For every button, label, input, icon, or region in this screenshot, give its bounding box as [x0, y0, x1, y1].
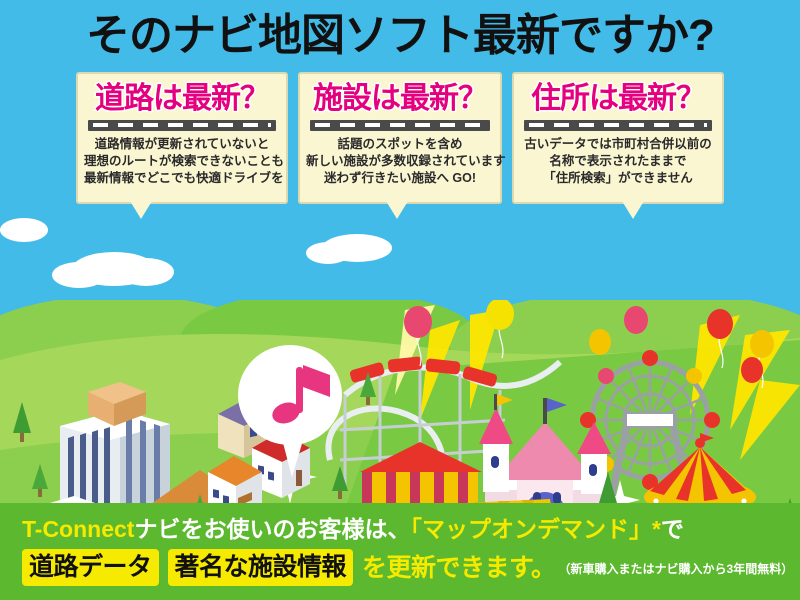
page-title: そのナビ地図ソフト最新ですか?: [0, 8, 800, 64]
footer-banner: T-Connectナビをお使いのお客様は、「マップオンデマンド」*で 道路データ…: [0, 503, 800, 600]
brand-name: T-Connect: [22, 516, 134, 542]
card-facility-line1: 話題のスポットを含め: [306, 136, 494, 153]
card-address: 住所は最新？ 古いデータでは市町村合併以前の 名称で表示されたままで 「住所検索…: [512, 72, 724, 204]
card-road-title: 道路は最新？: [84, 80, 280, 118]
card-address-line1: 古いデータでは市町村合併以前の: [520, 136, 716, 153]
card-address-line2: 名称で表示されたままで: [520, 153, 716, 170]
card-road-line1: 道路情報が更新されていないと: [84, 136, 280, 153]
cloud: [118, 258, 174, 286]
cloud: [306, 242, 350, 264]
badge-facility-info: 著名な施設情報: [168, 549, 354, 586]
road-dashes: [529, 123, 707, 127]
footer-fineprint: （新車購入またはナビ購入から3年間無料）: [559, 554, 794, 586]
card-road: 道路は最新？ 道路情報が更新されていないと 理想のルートが検索できないことも 最…: [76, 72, 288, 204]
cloud: [0, 218, 48, 242]
card-facility-title: 施設は最新？: [306, 80, 494, 118]
card-address-tail: [622, 201, 644, 219]
card-road-tail: [130, 201, 152, 219]
footer-subline: 道路データ 著名な施設情報 を更新できます。 （新車購入またはナビ購入から3年間…: [22, 549, 800, 586]
poster-root: そのナビ地図ソフト最新ですか? 道路は最新？ 道路情報が更新されていないと 理想…: [0, 0, 800, 600]
card-facility-tail: [386, 201, 408, 219]
badge-road-data: 道路データ: [22, 549, 159, 586]
cloud: [52, 262, 106, 288]
road-dashes: [93, 123, 271, 127]
card-facility: 施設は最新？ 話題のスポットを含め 新しい施設が多数収録されています 迷わず行き…: [298, 72, 502, 204]
card-facility-line3: 迷わず行きたい施設へ GO!: [306, 170, 494, 187]
footer-headline: T-Connectナビをお使いのお客様は、「マップオンデマンド」*で: [22, 512, 800, 546]
service-name: 「マップオンデマンド」*: [410, 516, 660, 542]
road-divider-icon: [310, 120, 490, 131]
footer-text-mid: ナビをお使いのお客様は、: [134, 516, 410, 542]
road-dashes: [315, 123, 485, 127]
road-divider-icon: [524, 120, 712, 131]
card-road-line2: 理想のルートが検索できないことも: [84, 153, 280, 170]
card-address-title: 住所は最新？: [520, 80, 716, 118]
card-facility-line2: 新しい施設が多数収録されています: [306, 153, 494, 170]
card-address-line3: 「住所検索」ができません: [520, 170, 716, 187]
road-divider-icon: [88, 120, 276, 131]
card-road-line3: 最新情報でどこでも快適ドライブを: [84, 170, 280, 187]
feature-cards: 道路は最新？ 道路情報が更新されていないと 理想のルートが検索できないことも 最…: [0, 72, 800, 212]
footer-update-text: を更新できます。: [362, 553, 556, 583]
footer-text-end: で: [661, 516, 684, 542]
